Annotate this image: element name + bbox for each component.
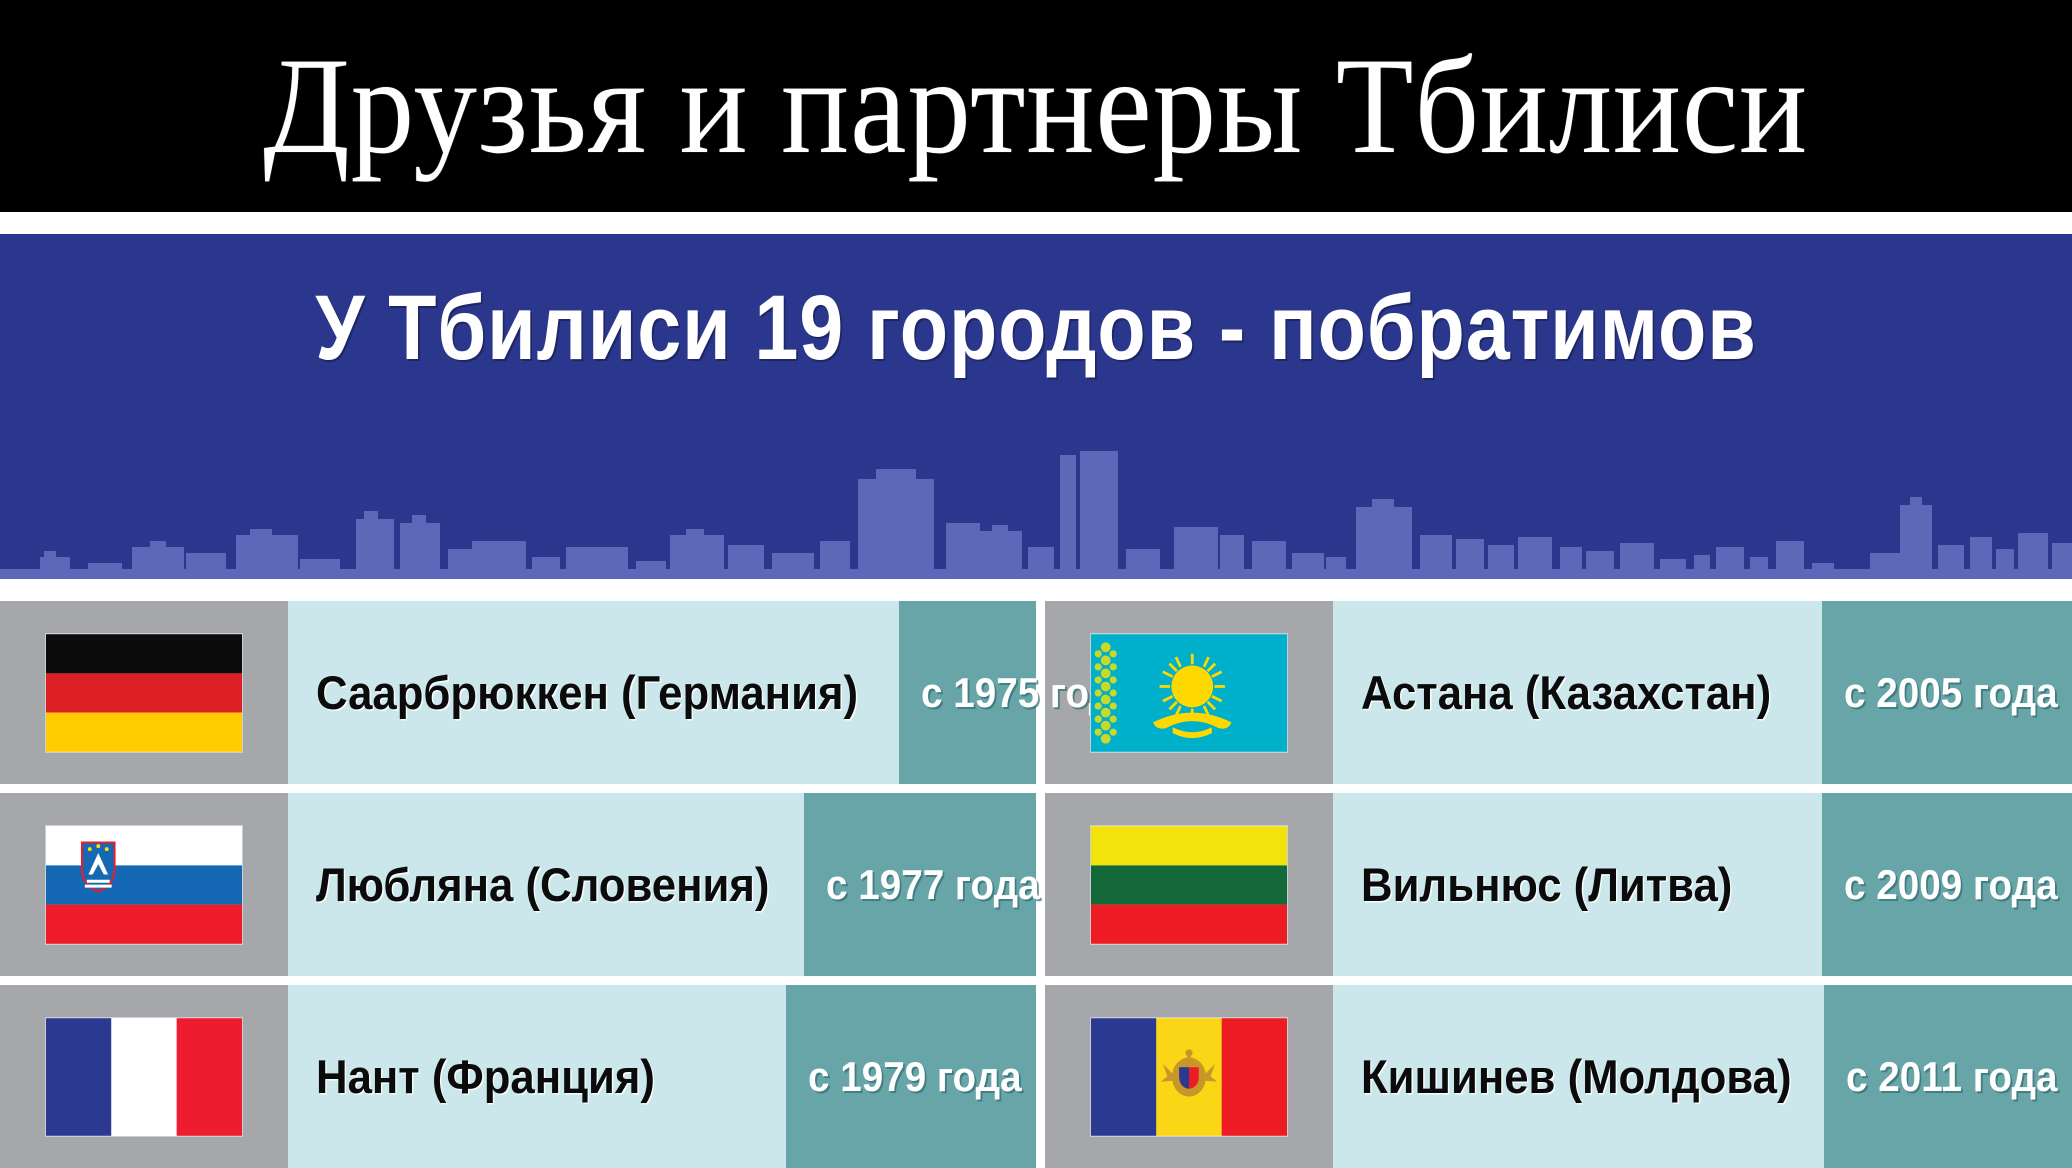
year-label: с 2005 года	[1844, 672, 2058, 714]
germany-flag-icon	[45, 633, 243, 753]
flag-cell	[1045, 793, 1333, 976]
divider-top	[0, 212, 2072, 234]
flag-cell	[0, 793, 288, 976]
table-row: Саарбрюккен (Германия) с 1975 года	[0, 601, 2072, 784]
table-cell-group-right: Вильнюс (Литва) с 2009 года	[1036, 793, 2072, 976]
sister-cities-table: Саарбрюккен (Германия) с 1975 года	[0, 601, 2072, 1168]
city-name-cell: Астана (Казахстан)	[1333, 601, 1822, 784]
city-label: Любляна (Словения)	[316, 861, 769, 908]
france-flag-icon	[45, 1017, 243, 1137]
flag-cell	[0, 985, 288, 1168]
city-name-cell: Нант (Франция)	[288, 985, 786, 1168]
city-name-cell: Кишинев (Молдова)	[1333, 985, 1824, 1168]
year-label: с 1979 года	[808, 1056, 1022, 1098]
year-cell: с 2009 года	[1822, 793, 2072, 976]
city-skyline-icon	[0, 449, 2072, 579]
year-label: с 2009 года	[1844, 864, 2058, 906]
table-row: Нант (Франция) с 1979 года	[0, 985, 2072, 1168]
subtitle-text: У Тбилиси 19 городов - побратимов	[145, 282, 1927, 374]
infographic-poster: Друзья и партнеры Тбилиси У Тбилиси 19 г…	[0, 0, 2072, 1168]
table-row: Любляна (Словения) с 1977 года	[0, 793, 2072, 976]
year-cell: с 1979 года	[786, 985, 1036, 1168]
year-cell: с 2005 года	[1822, 601, 2072, 784]
flag-cell	[0, 601, 288, 784]
divider-mid	[0, 579, 2072, 601]
slovenia-flag-icon	[45, 825, 243, 945]
table-cell-group-left: Любляна (Словения) с 1977 года	[0, 793, 1036, 976]
skyline-baseline	[0, 571, 2072, 579]
year-cell: с 1977 года	[804, 793, 1054, 976]
city-name-cell: Вильнюс (Литва)	[1333, 793, 1822, 976]
table-cell-group-left: Саарбрюккен (Германия) с 1975 года	[0, 601, 1036, 784]
year-label: с 2011 года	[1846, 1056, 2057, 1098]
city-label: Нант (Франция)	[316, 1053, 655, 1100]
table-cell-group-right: Кишинев (Молдова) с 2011 года	[1036, 985, 2072, 1168]
moldova-flag-icon	[1090, 1017, 1288, 1137]
city-label: Кишинев (Молдова)	[1361, 1053, 1792, 1100]
year-cell: с 2011 года	[1824, 985, 2072, 1168]
year-label: с 1977 года	[826, 864, 1040, 906]
lithuania-flag-icon	[1090, 825, 1288, 945]
city-label: Вильнюс (Литва)	[1361, 861, 1732, 908]
city-label: Астана (Казахстан)	[1361, 669, 1771, 716]
kazakhstan-flag-icon	[1090, 633, 1288, 753]
table-cell-group-right: Астана (Казахстан) с 2005 года	[1036, 601, 2072, 784]
page-title: Друзья и партнеры Тбилиси	[264, 37, 1809, 175]
city-label: Саарбрюккен (Германия)	[316, 669, 858, 716]
table-cell-group-left: Нант (Франция) с 1979 года	[0, 985, 1036, 1168]
title-band: Друзья и партнеры Тбилиси	[0, 0, 2072, 212]
city-name-cell: Любляна (Словения)	[288, 793, 804, 976]
subtitle-banner: У Тбилиси 19 городов - побратимов	[0, 234, 2072, 579]
city-name-cell: Саарбрюккен (Германия)	[288, 601, 899, 784]
flag-cell	[1045, 985, 1333, 1168]
